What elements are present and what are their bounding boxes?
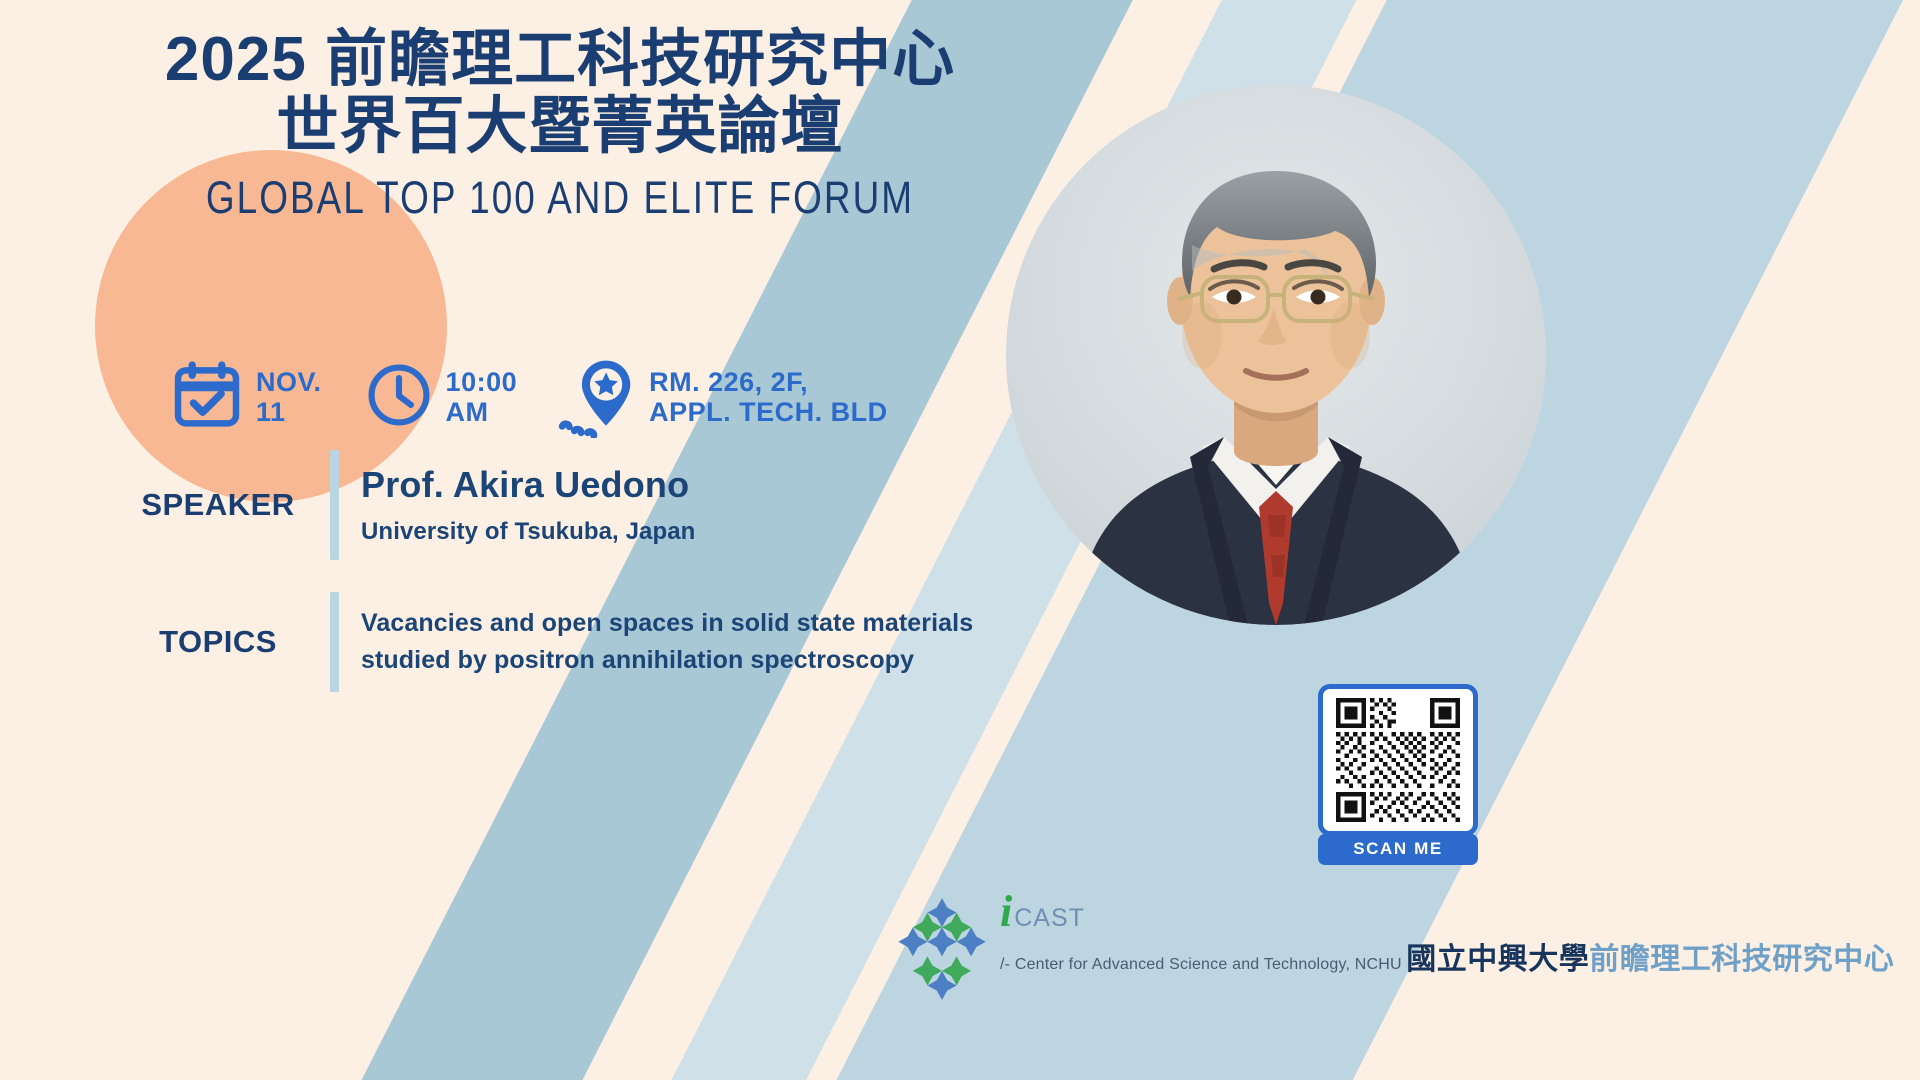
speaker-name: Prof. Akira Uedono [361, 464, 695, 506]
event-date: NOV. 11 [170, 358, 322, 437]
event-location-text: RM. 226, 2F, APPL. TECH. BLD [649, 368, 888, 426]
scan-me-label[interactable]: SCAN ME [1318, 834, 1478, 865]
topics-line-2: studied by positron annihilation spectro… [361, 642, 973, 680]
topics-divider-bar [330, 592, 339, 692]
headline-subtitle-english: GLOBAL TOP 100 AND ELITE FORUM [101, 172, 1019, 224]
speaker-label: SPEAKER [118, 487, 318, 523]
speaker-affiliation: University of Tsukuba, Japan [361, 518, 695, 546]
headline-group: 2025 前瞻理工科技研究中心 世界百大暨菁英論壇 GLOBAL TOP 100… [0, 28, 1120, 224]
headline-line-1: 2025 前瞻理工科技研究中心 [0, 28, 1120, 91]
speaker-block: SPEAKER Prof. Akira Uedono University of… [118, 450, 695, 560]
event-time-text: 10:00 AM [446, 368, 518, 426]
icast-logo: i CAST /- Center for Advanced Science an… [890, 890, 1894, 1000]
topics-details: Vacancies and open spaces in solid state… [361, 605, 973, 680]
clock-icon [364, 360, 434, 435]
calendar-check-icon [170, 358, 244, 437]
topics-block: TOPICS Vacancies and open spaces in soli… [118, 592, 973, 692]
topics-label: TOPICS [118, 624, 318, 660]
event-date-text: NOV. 11 [256, 368, 322, 426]
icast-cast-letters: CAST [1014, 906, 1085, 931]
icast-chinese-center: 前瞻理工科技研究中心 [1589, 943, 1894, 976]
icast-tagline: /- Center for Advanced Science and Techn… [1000, 956, 1402, 973]
qr-code-image[interactable] [1318, 684, 1478, 836]
map-pin-star-icon [551, 352, 637, 443]
event-time: 10:00 AM [364, 360, 518, 435]
icast-lattice-icon [890, 896, 994, 1000]
poster-canvas: 2025 前瞻理工科技研究中心 世界百大暨菁英論壇 GLOBAL TOP 100… [0, 0, 1920, 1080]
event-location: RM. 226, 2F, APPL. TECH. BLD [551, 352, 888, 443]
qr-code-block[interactable]: SCAN ME [1318, 684, 1478, 869]
headline-line-2: 世界百大暨菁英論壇 [0, 95, 1120, 158]
speaker-portrait-photo [1006, 85, 1546, 625]
speaker-divider-bar [330, 450, 339, 560]
icast-logo-text: i CAST /- Center for Advanced Science an… [1000, 890, 1894, 978]
icast-wordmark: i CAST [1000, 890, 1894, 934]
icast-chinese-name: 國立中興大學前瞻理工科技研究中心 [1406, 943, 1894, 976]
icast-i-letter: i [1000, 890, 1012, 934]
topics-line-1: Vacancies and open spaces in solid state… [361, 605, 973, 643]
event-info-row: NOV. 11 10:00 AM [170, 352, 888, 443]
icast-chinese-university: 國立中興大學 [1406, 943, 1589, 976]
speaker-details: Prof. Akira Uedono University of Tsukuba… [361, 464, 695, 546]
